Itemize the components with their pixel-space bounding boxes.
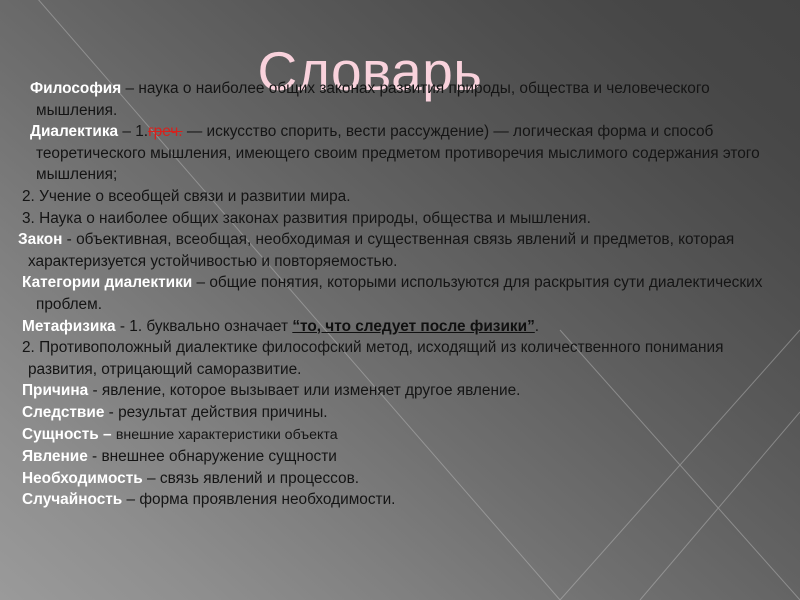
term-definition: внешние характеристики объекта <box>116 427 338 443</box>
term-label: Метафизика <box>22 318 116 335</box>
term-lead: буквально означает <box>142 318 292 335</box>
sense-number: 1. <box>129 318 142 335</box>
term-definition: наука о наиболее общих законах развития … <box>36 80 710 119</box>
term-tail: . <box>535 318 539 335</box>
entry-essence: Сущность – внешние характеристики объект… <box>0 424 800 447</box>
term-dash: – <box>192 274 209 291</box>
presentation-slide: Словарь Философия – наука о наиболее общ… <box>0 0 800 600</box>
term-dash: - <box>62 231 76 248</box>
term-dash: – <box>143 470 160 487</box>
term-definition: форма проявления необходимости. <box>139 491 395 508</box>
term-label: Случайность <box>22 491 122 508</box>
term-dash: – <box>122 491 139 508</box>
slide-body: Философия – наука о наиболее общих закон… <box>0 78 800 511</box>
sense-number: 1. <box>135 123 148 140</box>
quoted-phrase: “то, что следует после физики” <box>292 318 534 335</box>
term-label: Следствие <box>22 404 104 421</box>
term-label: Диалектика <box>30 123 118 140</box>
entry-cause: Причина - явление, которое вызывает или … <box>0 380 800 402</box>
term-dash: – <box>118 123 135 140</box>
entry-chance: Случайность – форма проявления необходим… <box>0 489 800 511</box>
term-dash: - <box>88 448 102 465</box>
entry-metaphysics: Метафизика - 1. буквально означает “то, … <box>0 316 800 338</box>
term-label: Необходимость <box>22 470 143 487</box>
term-dash: - <box>104 404 118 421</box>
term-label: Философия <box>30 80 121 97</box>
term-label: Явление <box>22 448 88 465</box>
term-label: Сущность <box>22 426 99 443</box>
entry-categories: Категории диалектики – общие понятия, ко… <box>0 272 800 315</box>
entry-necessity: Необходимость – связь явлений и процессо… <box>0 468 800 490</box>
term-dash: - <box>116 318 130 335</box>
term-label: Категории диалектики <box>22 274 192 291</box>
term-definition: результат действия причины. <box>118 404 327 421</box>
term-definition: связь явлений и процессов. <box>160 470 359 487</box>
entry-law: Закон - объективная, всеобщая, необходим… <box>0 229 800 272</box>
term-label: Закон <box>18 231 62 248</box>
term-definition: внешнее обнаружение сущности <box>101 448 336 465</box>
term-dash: – <box>121 80 138 97</box>
entry-metaphysics-sense-2: 2. Противоположный диалектике философски… <box>0 337 800 380</box>
term-dash: - <box>88 382 102 399</box>
term-definition: объективная, всеобщая, необходимая и сущ… <box>28 231 734 270</box>
entry-philosophy: Философия – наука о наиболее общих закон… <box>0 78 800 121</box>
entry-dialectics: Диалектика – 1.греч. — искусство спорить… <box>0 121 800 186</box>
term-definition: явление, которое вызывает или изменяет д… <box>102 382 521 399</box>
term-label: Причина <box>22 382 88 399</box>
term-dash: – <box>99 426 116 443</box>
entry-effect: Следствие - результат действия причины. <box>0 402 800 424</box>
entry-dialectics-sense-3: 3. Наука о наиболее общих законах развит… <box>0 208 800 230</box>
entry-dialectics-sense-2: 2. Учение о всеобщей связи и развитии ми… <box>0 186 800 208</box>
greek-annotation: греч. <box>148 123 183 140</box>
entry-appearance: Явление - внешнее обнаружение сущности <box>0 446 800 468</box>
